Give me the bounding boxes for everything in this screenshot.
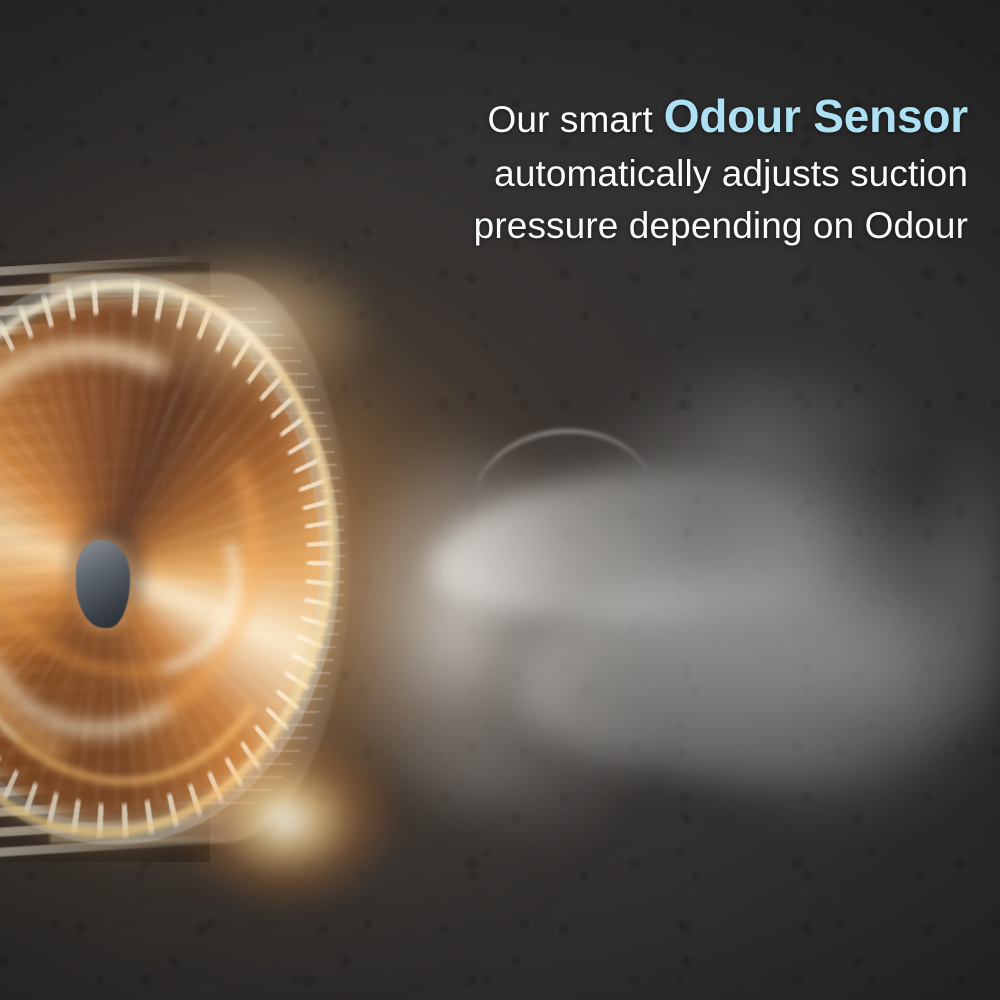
feature-banner: Our smart Odour Sensor automatically adj… <box>0 0 1000 1000</box>
headline-line-1: Our smart Odour Sensor <box>308 88 968 145</box>
headline-accent-text: Odour Sensor <box>664 90 968 142</box>
headline-line-3: pressure depending on Odour <box>308 203 968 249</box>
headline-block: Our smart Odour Sensor automatically adj… <box>308 88 968 249</box>
headline-line-2: automatically adjusts suction <box>308 151 968 197</box>
headline-lead-text: Our smart <box>487 99 652 140</box>
